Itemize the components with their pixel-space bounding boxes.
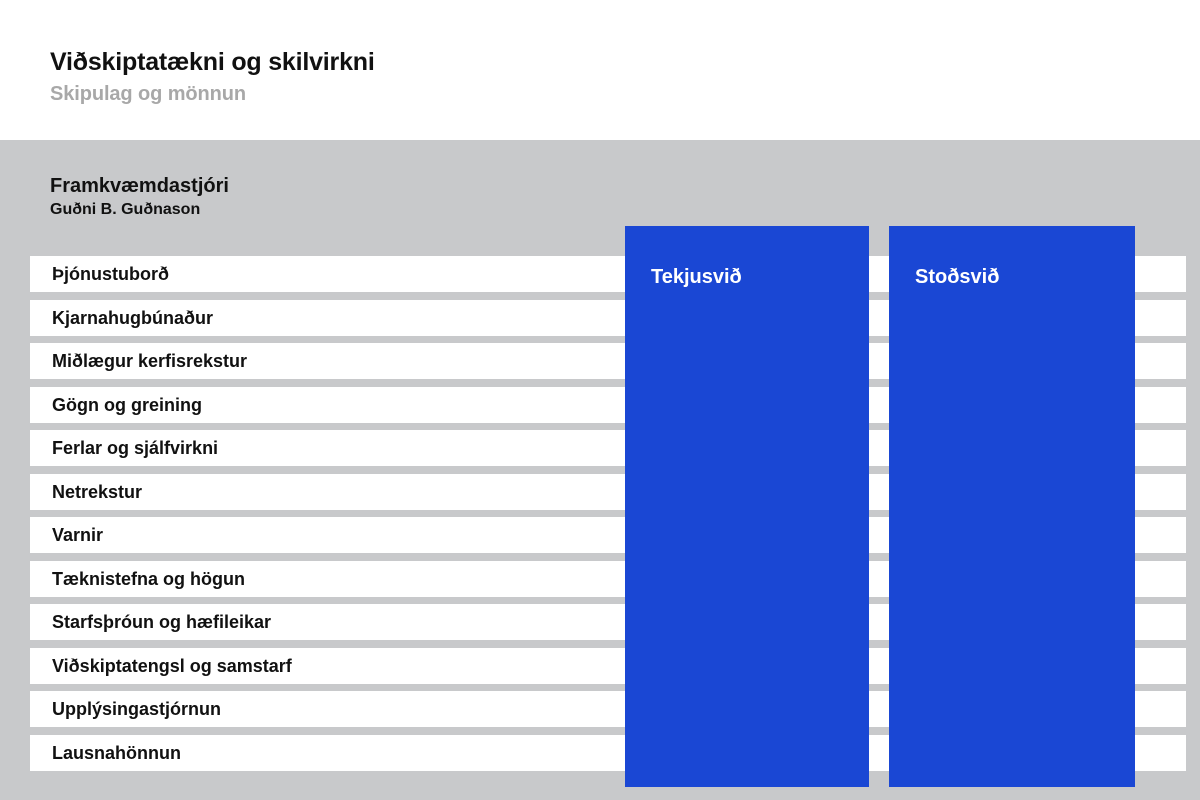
unit-row-label: Starfsþróun og hæfileikar xyxy=(52,604,271,640)
unit-row-label: Netrekstur xyxy=(52,474,142,510)
division-panel-stodsvid[interactable]: Stoðsvið xyxy=(889,226,1135,787)
division-title: Tekjusvið xyxy=(651,266,742,289)
unit-row-label: Þjónustuborð xyxy=(52,256,169,292)
unit-row-label: Miðlægur kerfisrekstur xyxy=(52,343,247,379)
unit-row-label: Lausnahönnun xyxy=(52,735,181,771)
unit-row-label: Viðskiptatengsl og samstarf xyxy=(52,648,292,684)
unit-row-label: Tæknistefna og högun xyxy=(52,561,245,597)
unit-row-label: Ferlar og sjálfvirkni xyxy=(52,430,218,466)
unit-row-label: Kjarnahugbúnaður xyxy=(52,300,213,336)
unit-row-label: Varnir xyxy=(52,517,103,553)
unit-row-label: Upplýsingastjórnun xyxy=(52,691,221,727)
division-panel-tekjusvid[interactable]: Tekjusvið xyxy=(625,226,869,787)
division-title: Stoðsvið xyxy=(915,266,999,289)
unit-row-label: Gögn og greining xyxy=(52,387,202,423)
org-chart-slide: Viðskiptatækni og skilvirkni Skipulag og… xyxy=(0,0,1200,800)
